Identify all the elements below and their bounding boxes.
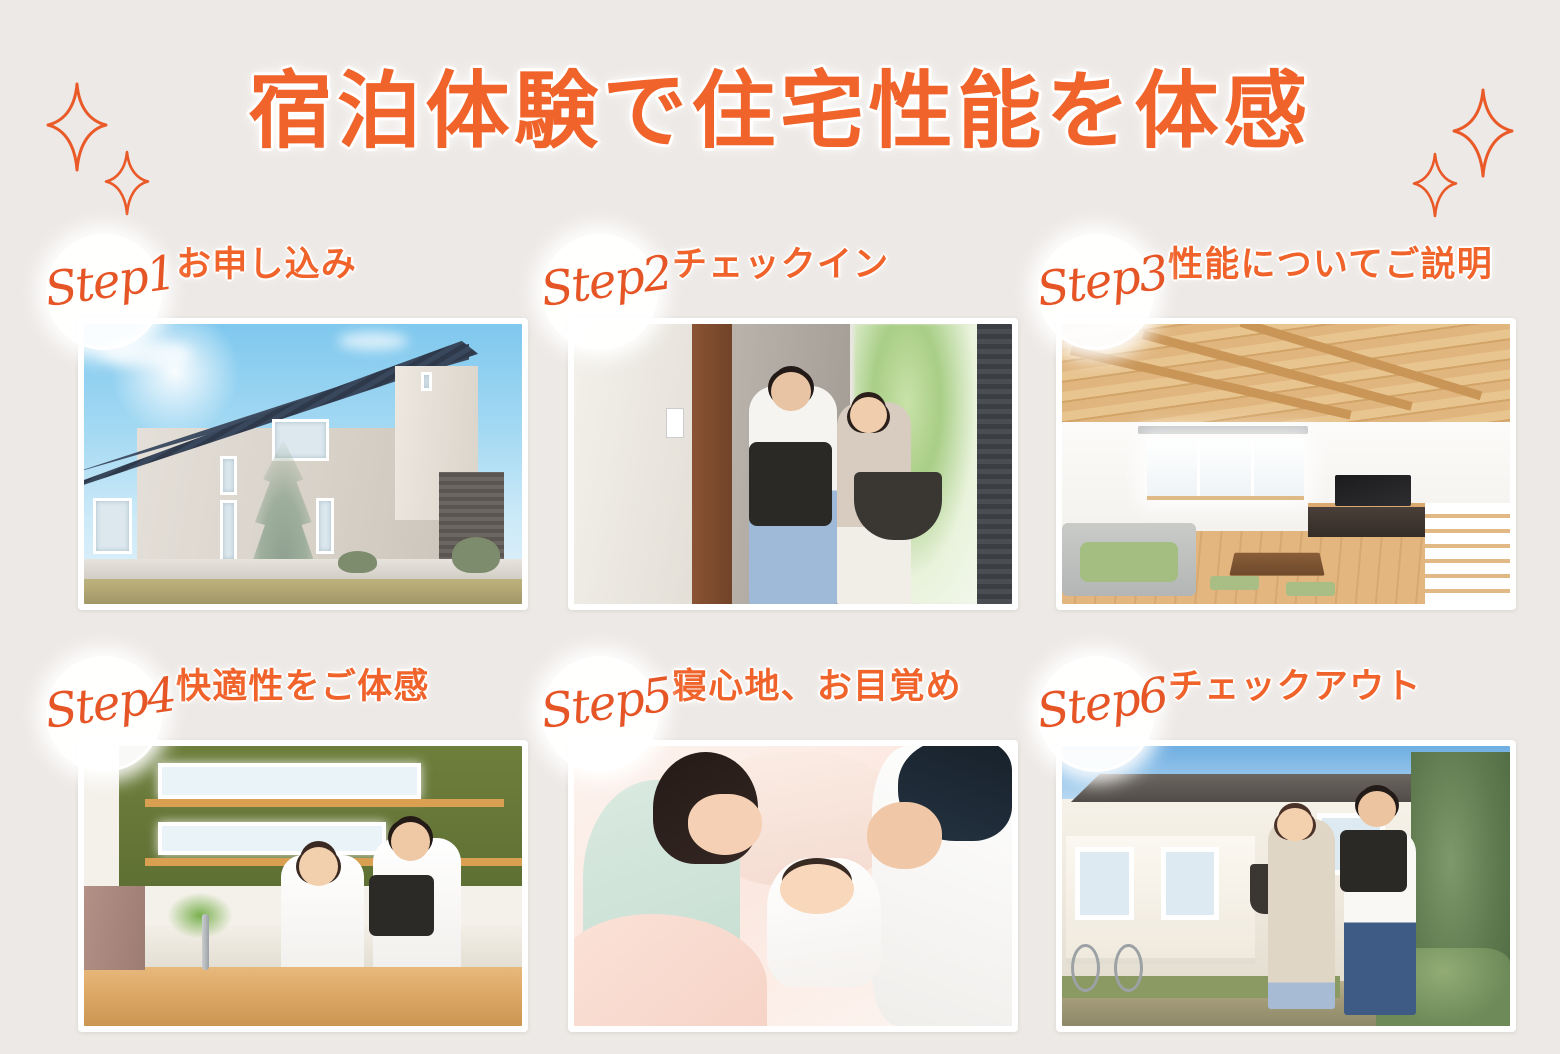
- infographic-page: 宿泊体験で住宅性能を体感 Step1 お申し込み: [0, 0, 1560, 1054]
- photo-family-bed: [574, 746, 1012, 1026]
- photo-frame-1: [78, 318, 528, 610]
- step-badge-1: Step1: [44, 232, 168, 356]
- photo-family-leaving: [1062, 746, 1510, 1026]
- photo-kitchen-family: [84, 746, 522, 1026]
- sparkle-icon: [104, 150, 150, 216]
- step-label-6: チェックアウト: [1168, 668, 1422, 707]
- step-label-1: お申し込み: [176, 246, 357, 285]
- step-card-2[interactable]: Step2 チェックイン: [532, 232, 1002, 610]
- sparkle-icon: [1412, 152, 1458, 218]
- page-title: 宿泊体験で住宅性能を体感: [0, 68, 1560, 159]
- step-card-5[interactable]: Step5 寝心地、お目覚め: [532, 654, 1002, 1032]
- step-card-4[interactable]: Step4 快適性をご体感: [36, 654, 506, 1032]
- photo-house-exterior: [84, 324, 522, 604]
- step-card-1[interactable]: Step1 お申し込み: [36, 232, 506, 610]
- step-label-4: 快適性をご体感: [176, 668, 430, 707]
- step-badge-6: Step6: [1036, 654, 1160, 778]
- step-card-6[interactable]: Step6 チェックアウト: [1028, 654, 1498, 1032]
- photo-couple-entrance: [574, 324, 1012, 604]
- step-card-3[interactable]: Step3 性能についてご説明: [1028, 232, 1498, 610]
- step-label-3: 性能についてご説明: [1168, 246, 1493, 285]
- photo-living-room: [1062, 324, 1510, 604]
- steps-grid: Step1 お申し込み: [36, 232, 1524, 1032]
- photo-frame-4: [78, 740, 528, 1032]
- step-badge-3: Step3: [1036, 232, 1160, 356]
- photo-frame-6: [1056, 740, 1516, 1032]
- photo-frame-3: [1056, 318, 1516, 610]
- step-label-5: 寝心地、お目覚め: [672, 668, 962, 707]
- step-badge-2: Step2: [540, 232, 664, 356]
- photo-frame-5: [568, 740, 1018, 1032]
- photo-frame-2: [568, 318, 1018, 610]
- step-label-2: チェックイン: [672, 246, 889, 285]
- title-band: 宿泊体験で住宅性能を体感: [0, 0, 1560, 225]
- step-badge-4: Step4: [44, 654, 168, 778]
- step-badge-5: Step5: [540, 654, 664, 778]
